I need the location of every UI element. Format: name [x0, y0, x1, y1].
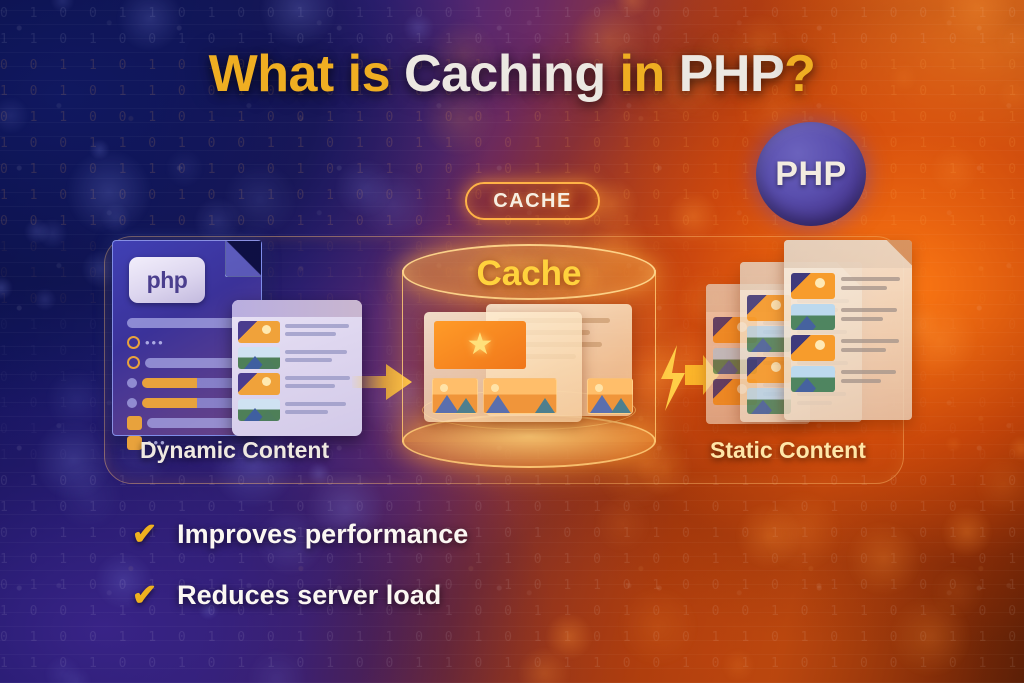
benefit-label: Reduces server load: [177, 580, 441, 611]
token-square: [127, 416, 142, 430]
static-document-front: [784, 240, 912, 420]
dynamic-content-group: php ••• •••: [112, 240, 342, 440]
list-item: [232, 317, 362, 343]
code-line: [127, 417, 249, 428]
php-file-badge: php: [129, 257, 205, 303]
code-line: •••: [127, 337, 249, 348]
code-line: [127, 357, 249, 368]
benefit-item: ✔ Improves performance: [132, 519, 468, 550]
landscape-thumbnail-icon: [432, 378, 478, 414]
binary-code-row: 0 1 0 0 1 1 0 1 0 0 1 0 1 1 0 0 1 0 1 1 …: [0, 6, 1024, 21]
sun-thumbnail-icon: [791, 273, 835, 299]
ellipsis-icon: •••: [145, 339, 165, 347]
benefit-item: ✔ Reduces server load: [132, 580, 468, 611]
mountain-thumbnail-icon: [238, 347, 280, 369]
card-header-bar: [232, 300, 362, 317]
code-line: [127, 397, 249, 408]
code-line: [127, 377, 249, 388]
cache-cylinder-label: Cache: [394, 254, 664, 294]
php-file-badge-label: php: [147, 267, 188, 294]
document-row: [784, 330, 912, 361]
cache-pill-label: CACHE: [493, 190, 572, 213]
binary-code-row: 1 0 0 1 1 0 1 0 0 1 1 0 1 0 1 1 0 0 1 1 …: [0, 136, 1024, 151]
title-part-php: PHP: [679, 45, 784, 103]
benefits-list: ✔ Improves performance ✔ Reduces server …: [132, 519, 468, 641]
benefit-label: Improves performance: [177, 519, 468, 550]
sun-thumbnail-icon: [791, 335, 835, 361]
page-fold-corner: [225, 241, 261, 277]
document-row: [784, 299, 912, 330]
code-line: [127, 317, 249, 328]
star-icon: ★: [467, 330, 494, 360]
mountain-thumbnail-icon: [791, 304, 835, 330]
php-logo-badge: PHP: [756, 122, 866, 226]
check-icon: ✔: [132, 582, 157, 610]
cached-page-front: ★: [424, 312, 582, 422]
mountain-thumbnail-icon: [238, 399, 280, 421]
hero-image-thumbnail: ★: [434, 321, 526, 369]
bokeh-circle: [356, 168, 429, 241]
sun-thumbnail-icon: [238, 373, 280, 395]
binary-code-row: 1 1 0 1 0 0 1 0 1 1 0 1 0 0 1 1 0 1 0 1 …: [0, 656, 1024, 671]
mountain-thumbnail-icon: [791, 366, 835, 392]
list-item: [232, 395, 362, 421]
dynamic-content-label: Dynamic Content: [140, 437, 329, 464]
binary-code-row: 0 1 1 0 0 1 0 1 1 0 0 1 1 0 1 0 0 1 0 1 …: [0, 110, 1024, 125]
sun-thumbnail-icon: [238, 321, 280, 343]
title-part-caching: Caching: [404, 45, 606, 103]
list-item: [232, 343, 362, 369]
poster-canvas: 0 1 0 0 1 1 0 1 0 0 1 0 1 1 0 0 1 0 1 1 …: [0, 0, 1024, 683]
list-item: [232, 369, 362, 395]
cache-pill-badge: CACHE: [465, 182, 600, 220]
landscape-thumbnail-icon: [483, 378, 557, 414]
static-content-group: [706, 240, 906, 440]
php-badge-label: PHP: [775, 155, 846, 194]
document-row: [784, 268, 912, 299]
binary-code-row: 1 1 0 1 0 0 1 0 1 1 0 1 0 0 1 1 0 1 0 1 …: [0, 500, 1024, 515]
check-icon: ✔: [132, 521, 157, 549]
title-part-question: ?: [784, 45, 815, 103]
title-part-what-is: What is: [209, 45, 404, 103]
cached-pages-group: ★: [424, 304, 636, 422]
title-part-in: in: [606, 45, 679, 103]
dynamic-page-preview-card: [232, 300, 362, 436]
circle-icon: [127, 336, 140, 349]
code-lines-group: ••• •••: [127, 317, 249, 457]
cache-cylinder: Cache ★: [394, 240, 664, 472]
cached-thumbnail-row: [432, 378, 557, 414]
landscape-thumbnail-icon: [587, 378, 633, 414]
page-title: What is Caching in PHP?: [0, 44, 1024, 104]
static-content-label: Static Content: [710, 437, 866, 464]
document-row: [784, 361, 912, 392]
binary-code-row: 0 1 0 0 1 1 0 1 0 0 1 0 1 1 0 0 1 0 1 1 …: [0, 162, 1024, 177]
